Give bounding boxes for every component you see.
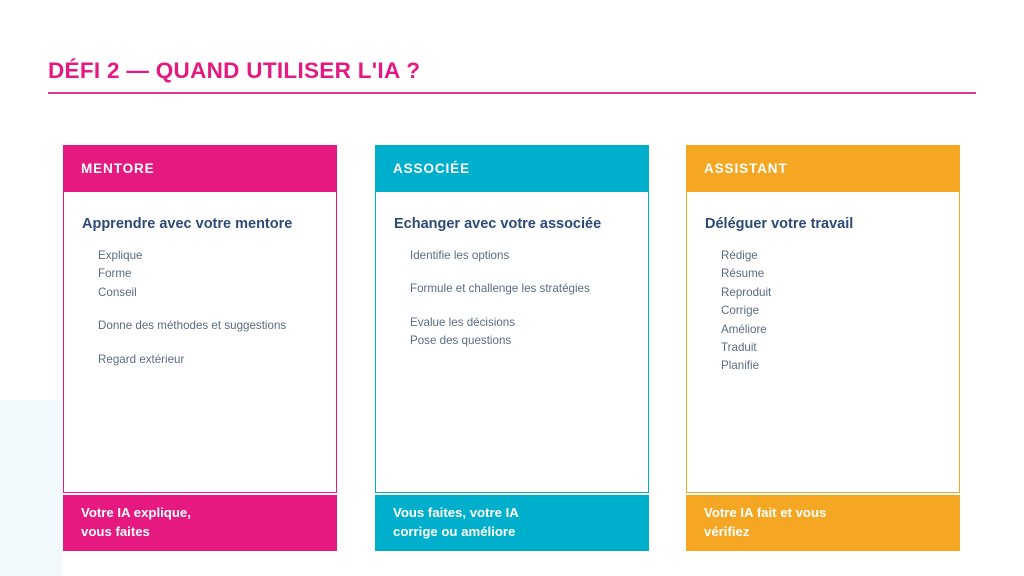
card-assistant-subtitle: Déléguer votre travail [705, 214, 945, 235]
card-associee-footer: Vous faites, votre IA corrige ou amélior… [375, 495, 649, 551]
card-associee[interactable]: ASSOCIÉE Echanger avec votre associée Id… [375, 145, 649, 551]
list-item: Résume [721, 267, 945, 281]
list-item: Rédige [721, 249, 945, 263]
slide-root: DÉFI 2 — QUAND UTILISER L'IA ? MENTORE A… [0, 0, 1024, 576]
list-item: Planifie [721, 359, 945, 373]
card-assistant-list: Rédige Résume Reproduit Corrige Améliore… [705, 249, 945, 374]
card-associee-body: Echanger avec votre associée Identifie l… [375, 192, 649, 493]
card-mentore-footer-text: Votre IA explique, vous faites [81, 504, 337, 541]
cards-container: MENTORE Apprendre avec votre mentore Exp… [63, 145, 960, 551]
title-underline-divider [48, 92, 976, 94]
card-assistant-header: ASSISTANT [686, 145, 960, 192]
card-assistant-footer-text: Votre IA fait et vous vérifiez [704, 504, 960, 541]
card-assistant-body: Déléguer votre travail Rédige Résume Rep… [686, 192, 960, 493]
card-associee-subtitle: Echanger avec votre associée [394, 214, 634, 235]
list-item: Traduit [721, 341, 945, 355]
list-item: Explique [98, 249, 322, 263]
card-associee-footer-text: Vous faites, votre IA corrige ou amélior… [393, 504, 649, 541]
list-item: Corrige [721, 304, 945, 318]
list-item: Regard extérieur [98, 353, 322, 367]
card-assistant-footer: Votre IA fait et vous vérifiez [686, 495, 960, 551]
card-mentore-list: Explique Forme Conseil Donne des méthode… [82, 249, 322, 367]
card-mentore[interactable]: MENTORE Apprendre avec votre mentore Exp… [63, 145, 337, 551]
card-associee-header: ASSOCIÉE [375, 145, 649, 192]
card-assistant-header-label: ASSISTANT [704, 161, 788, 176]
list-item: Forme [98, 267, 322, 281]
card-mentore-footer: Votre IA explique, vous faites [63, 495, 337, 551]
list-item: Reproduit [721, 286, 945, 300]
decorative-corner-wash [0, 400, 62, 576]
list-item: Identifie les options [410, 249, 634, 263]
list-item: Evalue les décisions [410, 316, 634, 330]
card-mentore-subtitle: Apprendre avec votre mentore [82, 214, 322, 235]
list-item: Pose des questions [410, 334, 634, 348]
card-mentore-header-label: MENTORE [81, 161, 155, 176]
card-associee-list: Identifie les options Formule et challen… [394, 249, 634, 349]
list-item: Améliore [721, 323, 945, 337]
card-assistant[interactable]: ASSISTANT Déléguer votre travail Rédige … [686, 145, 960, 551]
list-item: Formule et challenge les stratégies [410, 282, 634, 296]
list-item: Conseil [98, 286, 322, 300]
card-associee-header-label: ASSOCIÉE [393, 161, 470, 176]
list-item: Donne des méthodes et suggestions [98, 319, 322, 333]
page-title: DÉFI 2 — QUAND UTILISER L'IA ? [48, 58, 420, 84]
card-mentore-header: MENTORE [63, 145, 337, 192]
card-mentore-body: Apprendre avec votre mentore Explique Fo… [63, 192, 337, 493]
